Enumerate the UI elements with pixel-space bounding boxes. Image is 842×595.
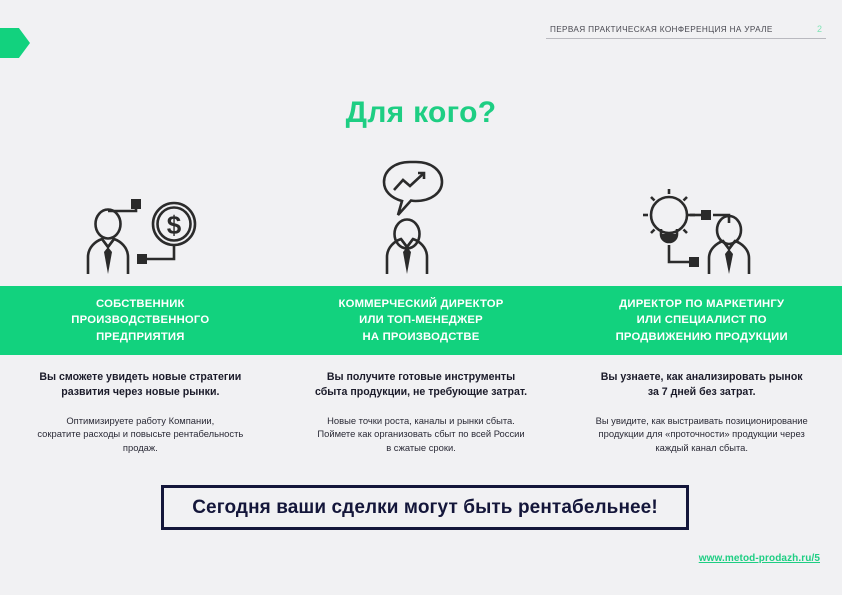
band-cell-commercial-director: КОММЕРЧЕСКИЙ ДИРЕКТОР ИЛИ ТОП-МЕНЕДЖЕР Н… xyxy=(281,286,562,355)
slide-header: ПЕРВАЯ ПРАКТИЧЕСКАЯ КОНФЕРЕНЦИЯ НА УРАЛЕ… xyxy=(0,0,842,70)
lightbulb-with-businessman-icon xyxy=(637,183,767,275)
band-cell-owner: СОБСТВЕННИК ПРОИЗВОДСТВЕННОГО ПРЕДПРИЯТИ… xyxy=(0,286,281,355)
conference-title: ПЕРВАЯ ПРАКТИЧЕСКАЯ КОНФЕРЕНЦИЯ НА УРАЛЕ xyxy=(550,25,773,34)
callout-text: Сегодня ваши сделки могут быть рентабель… xyxy=(192,497,658,519)
band-cell-marketing-director: ДИРЕКТОР ПО МАРКЕТИНГУ ИЛИ СПЕЦИАЛИСТ ПО… xyxy=(561,286,842,355)
icon-cell-owner: $ xyxy=(0,155,281,275)
footer-website-link[interactable]: www.metod-prodazh.ru/5 xyxy=(699,553,820,564)
benefit-cell-marketing-director: Вы узнаете, как анализировать рынок за 7… xyxy=(561,370,842,470)
icon-cell-commercial-director xyxy=(281,155,562,275)
audience-heading-band: СОБСТВЕННИК ПРОИЗВОДСТВЕННОГО ПРЕДПРИЯТИ… xyxy=(0,286,842,355)
benefit-lead: Вы сможете увидеть новые стратегии разви… xyxy=(10,370,271,400)
benefit-detail: Новые точки роста, каналы и рынки сбыта.… xyxy=(291,414,552,454)
header-divider xyxy=(546,38,826,39)
benefit-row: Вы сможете увидеть новые стратегии разви… xyxy=(0,370,842,470)
benefit-cell-commercial-director: Вы получите готовые инструменты сбыта пр… xyxy=(281,370,562,470)
benefit-cell-owner: Вы сможете увидеть новые стратегии разви… xyxy=(0,370,281,470)
audience-heading: ДИРЕКТОР ПО МАРКЕТИНГУ ИЛИ СПЕЦИАЛИСТ ПО… xyxy=(616,296,788,344)
audience-heading: КОММЕРЧЕСКИЙ ДИРЕКТОР ИЛИ ТОП-МЕНЕДЖЕР Н… xyxy=(338,296,503,344)
svg-text:$: $ xyxy=(167,210,182,240)
businessman-with-growth-chart-bubble-icon xyxy=(366,157,476,275)
chevron-right-marker-icon xyxy=(0,28,30,58)
benefit-detail: Вы увидите, как выстраивать позициониров… xyxy=(571,414,832,454)
audience-heading: СОБСТВЕННИК ПРОИЗВОДСТВЕННОГО ПРЕДПРИЯТИ… xyxy=(71,296,209,344)
benefit-detail: Оптимизируете работу Компании, сократите… xyxy=(10,414,271,454)
callout-box: Сегодня ваши сделки могут быть рентабель… xyxy=(161,485,689,530)
benefit-lead: Вы узнаете, как анализировать рынок за 7… xyxy=(571,370,832,400)
icon-row: $ xyxy=(0,155,842,275)
page-number: 2 xyxy=(817,24,822,34)
businessman-with-dollar-coin-icon: $ xyxy=(75,185,205,275)
icon-cell-marketing-director xyxy=(561,155,842,275)
page-title: Для кого? xyxy=(0,96,842,130)
benefit-lead: Вы получите готовые инструменты сбыта пр… xyxy=(291,370,552,400)
header-meta: ПЕРВАЯ ПРАКТИЧЕСКАЯ КОНФЕРЕНЦИЯ НА УРАЛЕ… xyxy=(546,24,826,39)
